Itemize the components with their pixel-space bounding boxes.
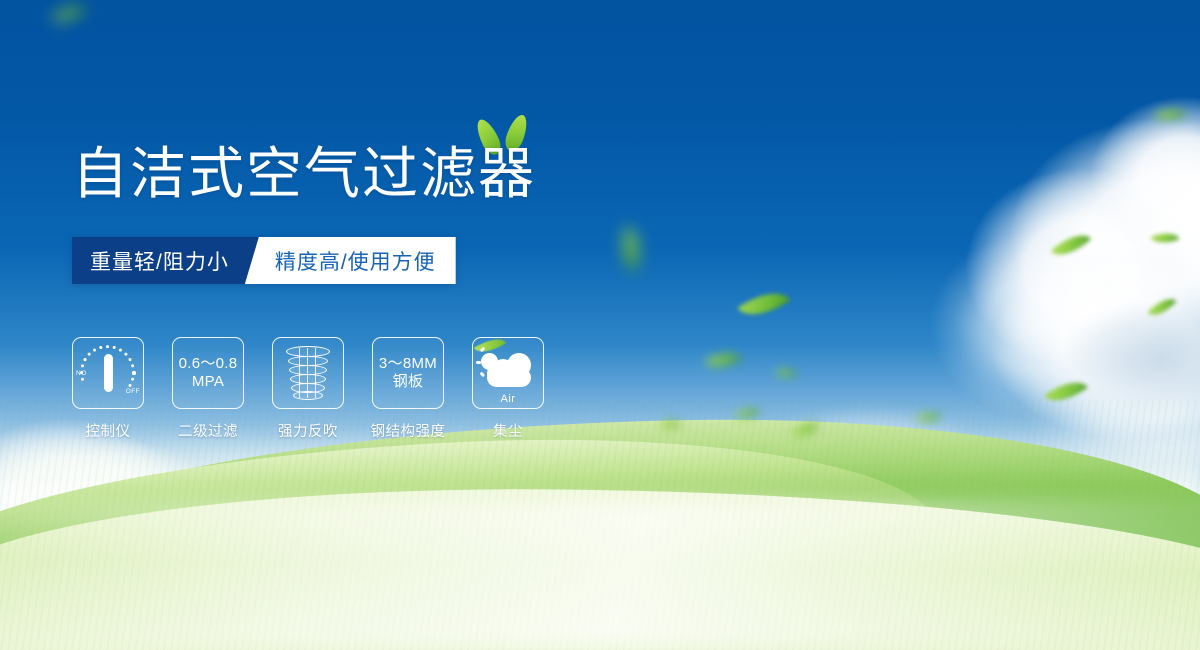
gauge-label-off: OFF [126,388,140,395]
page-title: 自洁式空气过滤器 [72,146,536,202]
subtitle-bar: 重量轻/阻力小 精度高/使用方便 [72,237,456,284]
feature-label: 控制仪 [86,420,131,441]
subtitle-left: 重量轻/阻力小 [72,237,259,284]
feature-label: 强力反吹 [278,420,338,441]
feature-item-controller[interactable]: NO OFF 控制仪 [72,337,144,441]
feature-item-two-stage-filtration[interactable]: 0.6～0.8 MPA 二级过滤 [172,337,244,441]
steel-thickness: 3～8MM [379,355,437,372]
steel-plate-text-icon: 3～8MM 钢板 [379,355,437,390]
feature-item-reverse-blow[interactable]: 强力反吹 [272,337,344,441]
feature-icon-box: NO OFF [72,337,144,409]
feature-icon-box: 3～8MM 钢板 [372,337,444,409]
promotional-banner: 自洁式空气过滤器 重量轻/阻力小 精度高/使用方便 [0,0,1200,650]
pressure-text-icon: 0.6～0.8 MPA [179,355,238,390]
feature-label: 二级过滤 [178,420,238,441]
gauge-label-no: NO [76,370,87,377]
feature-icon-box [272,337,344,409]
pressure-unit: MPA [179,373,238,391]
feature-list: NO OFF 控制仪 0.6～0.8 MPA 二级过滤 [72,337,544,441]
feature-label: 集尘 [493,420,523,441]
air-cloud-icon: Air [479,347,537,399]
feature-label: 钢结构强度 [371,420,446,441]
feature-item-dust-collection[interactable]: Air 集尘 [472,337,544,441]
feature-icon-box: 0.6～0.8 MPA [172,337,244,409]
subtitle-right: 精度高/使用方便 [245,237,456,284]
feature-icon-box: Air [472,337,544,409]
feature-item-steel-strength[interactable]: 3～8MM 钢板 钢结构强度 [372,337,444,441]
air-label: Air [479,393,537,405]
pressure-value: 0.6～0.8 [179,355,238,372]
gauge-needle [104,354,113,392]
gauge-icon: NO OFF [77,343,139,403]
steel-material: 钢板 [379,373,437,391]
reverse-blow-icon [282,344,334,402]
